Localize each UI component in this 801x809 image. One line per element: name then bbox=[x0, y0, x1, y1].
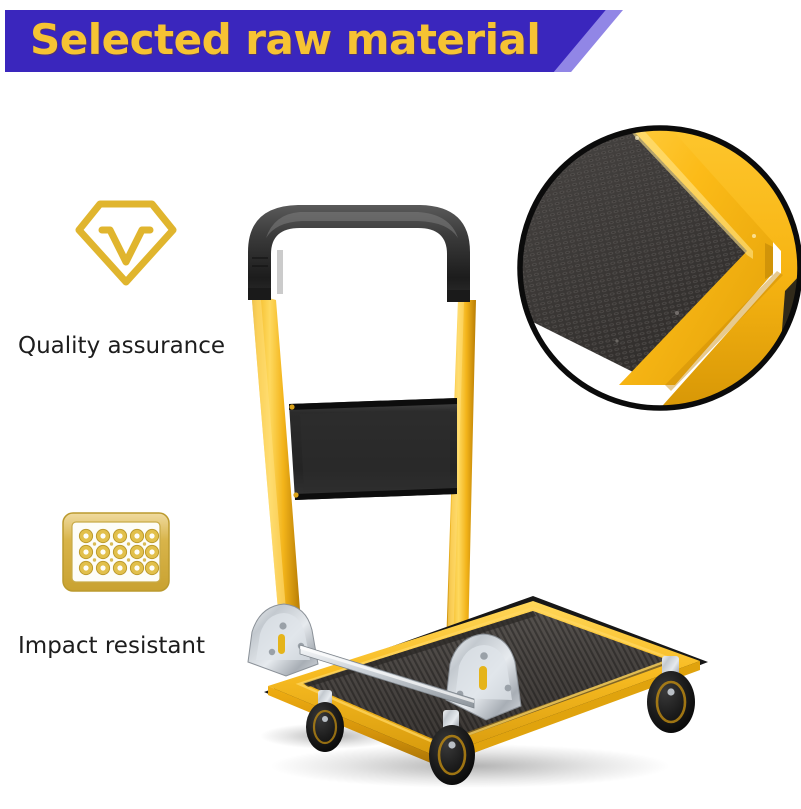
gem-diamond-icon bbox=[72, 182, 180, 298]
feature-impact-label: Impact resistant bbox=[18, 633, 205, 659]
feature-impact-resistant: Impact resistant bbox=[0, 500, 250, 690]
hinge-bracket-right bbox=[446, 634, 521, 720]
feature-quality-label: Quality assurance bbox=[18, 333, 225, 359]
anti-slip-mat-icon bbox=[60, 510, 172, 598]
caster-wheel-rear-left bbox=[306, 690, 344, 752]
caster-wheel-right bbox=[647, 656, 695, 733]
caster-wheel-front bbox=[429, 710, 475, 785]
banner-title: Selected raw material bbox=[30, 10, 540, 72]
feature-quality-assurance: Quality assurance bbox=[0, 170, 250, 370]
detail-inset-circle bbox=[515, 123, 801, 413]
hinge-bracket-left bbox=[248, 604, 318, 676]
header-banner: Selected raw material bbox=[0, 0, 801, 100]
